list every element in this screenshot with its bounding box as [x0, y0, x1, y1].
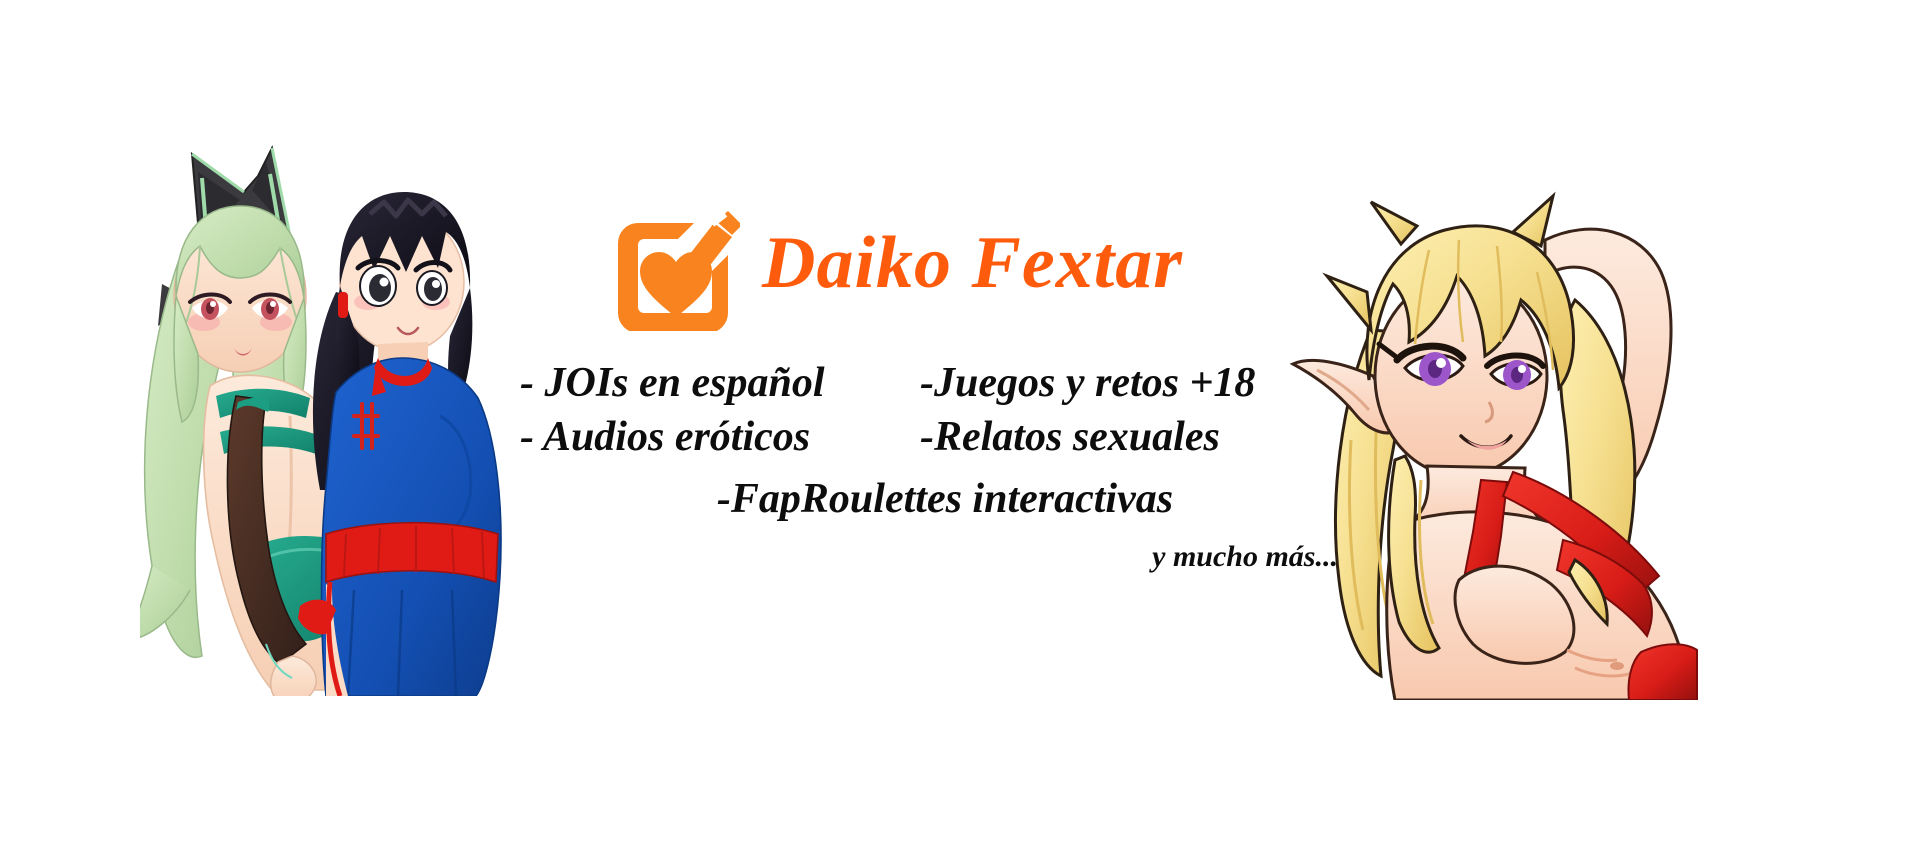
logo-row: Daiko Fextar [520, 195, 1400, 331]
black-haired-girl-in-cheongsam [298, 192, 501, 696]
feature-audios: - Audios eróticos [520, 411, 920, 465]
promo-banner: Daiko Fextar - JOIs en español -Juegos y… [0, 0, 1919, 841]
feature-jois: - JOIs en español [520, 357, 920, 411]
checklist-heart-pencil-icon [616, 195, 740, 331]
feature-tagline: y mucho más... [520, 538, 1400, 576]
feature-list: - JOIs en español -Juegos y retos +18 - … [520, 357, 1400, 577]
green-haired-catgirl [140, 148, 387, 696]
feature-faproulettes: -FapRoulettes interactivas [520, 473, 1400, 527]
brand-title: Daiko Fextar [762, 226, 1183, 300]
center-content: Daiko Fextar - JOIs en español -Juegos y… [520, 195, 1400, 577]
feature-juegos: -Juegos y retos +18 [920, 357, 1255, 411]
feature-row-1: - JOIs en español -Juegos y retos +18 [520, 357, 1400, 411]
feature-row-2: - Audios eróticos -Relatos sexuales [520, 411, 1400, 465]
feature-relatos: -Relatos sexuales [920, 411, 1220, 465]
